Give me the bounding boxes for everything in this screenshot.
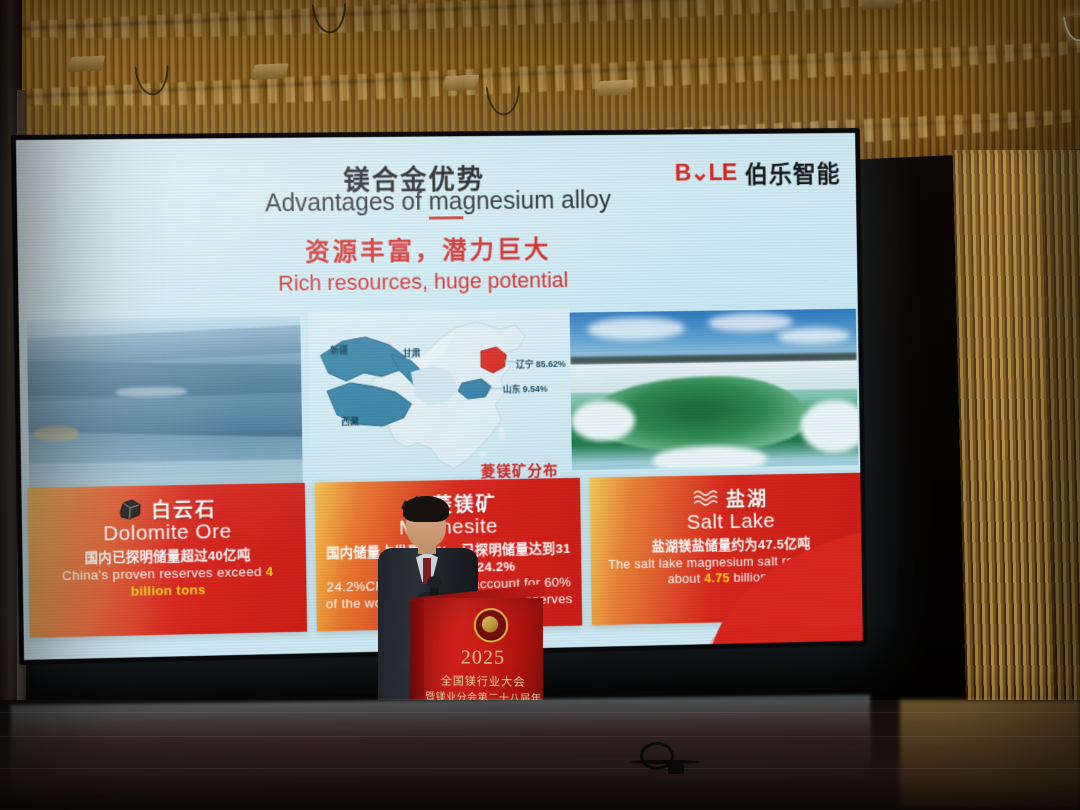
slide-title-en-pre: Advantages of [265,188,429,217]
rock-icon [117,499,143,520]
card-dolomite-title-cn: 白云石 [151,493,217,523]
brand-logo: B⌄LE 伯乐智能 [674,155,840,191]
waves-icon [693,488,718,509]
map-label-xinjiang: 新疆 [330,343,348,356]
podium-year: 2025 [424,646,543,670]
card-salt-lake-title-cn: 盐湖 [726,483,769,512]
card-dolomite-title-en: Dolomite Ore [28,519,306,548]
card-dolomite-en-value: 4 [266,564,274,579]
ceiling-light-icon [1063,15,1080,42]
logo-mark-text: B⌄LE [674,158,736,187]
china-magnesite-distribution-map: 新疆 甘肃 西藏 辽宁 85.62% 山东 9.54% 菱镁矿分布 [308,309,572,493]
microphone-icon [427,576,442,588]
card-dolomite: 白云石 Dolomite Ore 国内已探明储量超过40亿吨 China's p… [27,483,307,638]
stage-cable [668,764,684,774]
stage-photo-scene: 镁合金优势 Advantages of magnesium alloy 资源丰富… [0,0,1080,810]
podium-emblem-icon [474,608,508,643]
map-label-tibet: 西藏 [341,414,359,427]
map-label-gansu: 甘肃 [403,346,421,359]
slide-subtitle-cn: 资源丰富，潜力巨大 [305,230,552,268]
slide-title-en-underline: ma [428,188,462,220]
card-dolomite-body: 国内已探明储量超过40亿吨 China's proven reserves ex… [28,546,306,602]
slide-decoration-swoosh [650,529,863,651]
map-label-shandong: 山东 9.54% [503,382,548,396]
ceiling-light-icon [486,85,521,117]
card-dolomite-en-pre: China's proven reserves exceed [62,564,266,583]
floor-drape-reflection [900,700,1080,808]
logo-name-cn: 伯乐智能 [745,155,841,190]
slide-title-en-post: gnesium alloy [462,186,611,215]
podium-line-1: 全国镁行业大会 [424,672,543,690]
map-label-liaoning: 辽宁 85.62% [516,357,566,371]
salt-lake-photo [570,309,859,470]
slide-title-en: Advantages of magnesium alloy [265,186,611,218]
slide-subtitle-en: Rich resources, huge potential [278,267,569,296]
quarry-photo [27,316,303,492]
